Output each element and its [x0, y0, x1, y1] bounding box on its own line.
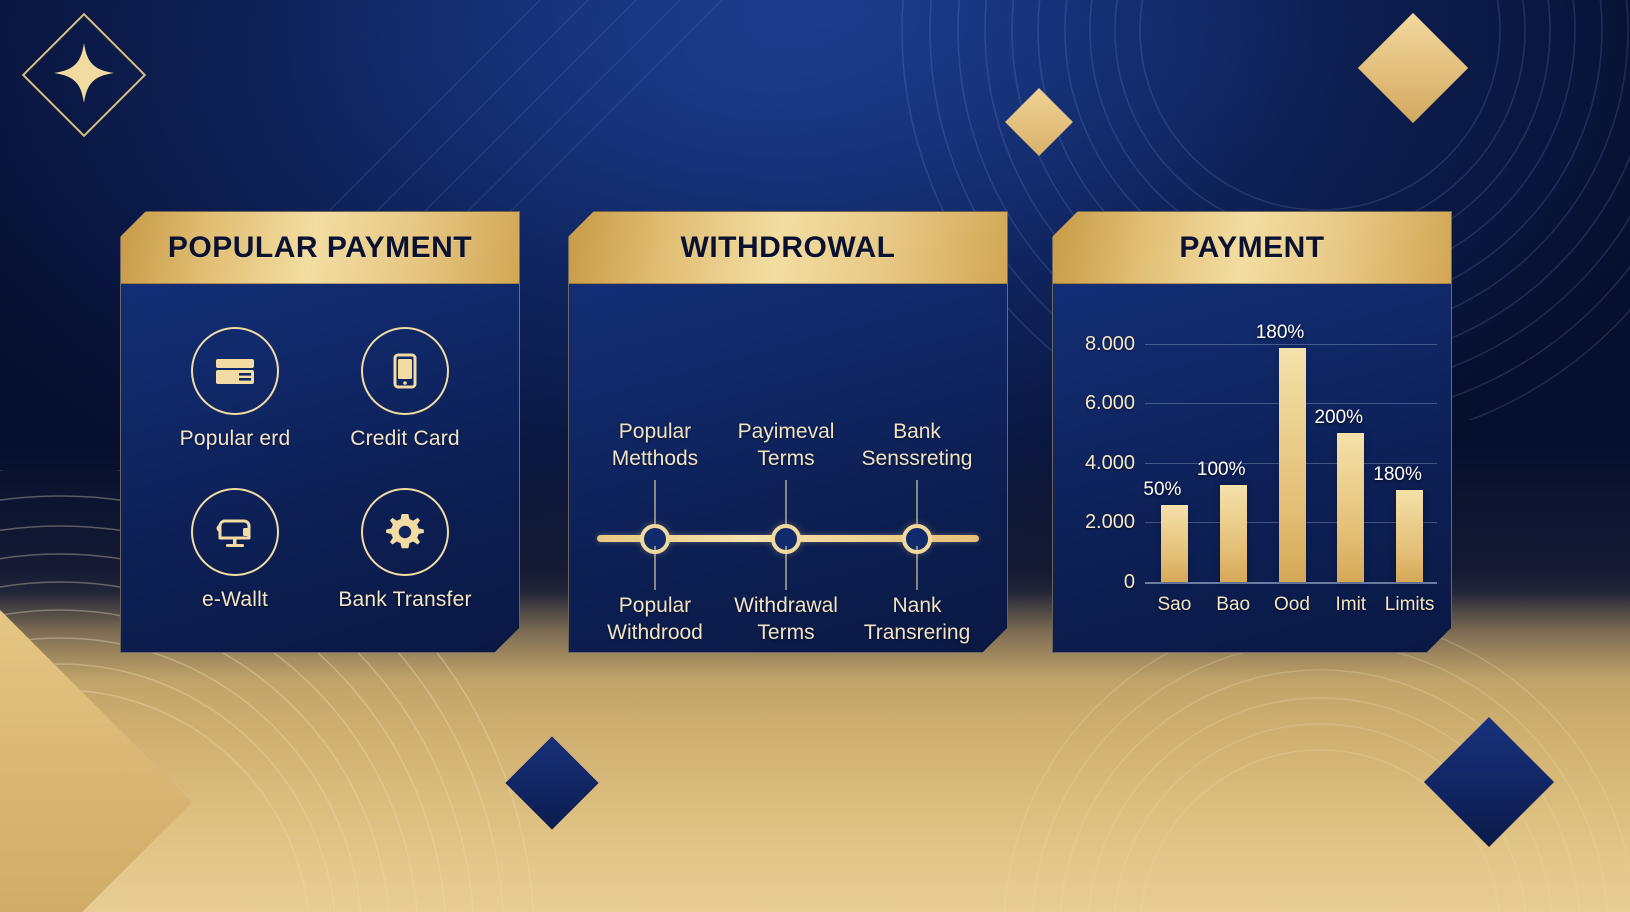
- timeline-bottom-label-line1: Withdrawal: [711, 592, 861, 619]
- panel-payment-title: PAYMENT: [1179, 231, 1324, 265]
- payment-method-item[interactable]: Credit Card: [325, 310, 485, 467]
- chart-bar[interactable]: [1220, 485, 1247, 582]
- panel-withdrowal-body: Popular Metthods Popular Withdrood Payim…: [569, 284, 1007, 653]
- payment-method-label: Bank Transfer: [338, 588, 471, 612]
- timeline-top-label: Popular Metthods: [580, 418, 730, 472]
- timeline-top-label-line2: Senssreting: [842, 445, 992, 472]
- payment-method-item[interactable]: Bank Transfer: [325, 471, 485, 628]
- timeline-tick-down: [785, 546, 787, 590]
- timeline-tick-down: [654, 546, 656, 590]
- chart-y-tick-label: 4.000: [1053, 452, 1135, 475]
- timeline-top-label: Payimeval Terms: [711, 418, 861, 472]
- panel-popular-payment: POPULAR PAYMENT Popular erd: [120, 211, 520, 653]
- timeline-bottom-label: Withdrawal Terms: [711, 592, 861, 646]
- mobile-phone-icon: [381, 347, 429, 395]
- timeline-bottom-label: Nank Transrering: [842, 592, 992, 646]
- icon-circle: [361, 327, 449, 415]
- chart-bar[interactable]: [1279, 348, 1306, 582]
- payment-method-label: e-Wallt: [202, 588, 268, 612]
- timeline-tick-down: [916, 546, 918, 590]
- panel-withdrowal-header: WITHDROWAL: [569, 212, 1007, 284]
- panel-withdrowal: WITHDROWAL Popular Metthods Popular With…: [568, 211, 1008, 653]
- chart-bar-value-label: 50%: [1127, 479, 1197, 501]
- chart-bar-value-label: 180%: [1363, 464, 1433, 486]
- icon-circle: [191, 488, 279, 576]
- timeline-top-label: Bank Senssreting: [842, 418, 992, 472]
- payment-method-label: Credit Card: [350, 427, 460, 451]
- timeline-bottom-label-line1: Nank: [842, 592, 992, 619]
- timeline-tick-up: [654, 480, 656, 524]
- bar-chart: 02.0004.0006.0008.00050%Sao100%Bao180%Oo…: [1053, 284, 1451, 653]
- chart-bar-value-label: 180%: [1245, 322, 1315, 344]
- panel-popular-payment-body: Popular erd Credit Card: [121, 284, 519, 653]
- chart-y-tick-label: 6.000: [1053, 392, 1135, 415]
- timeline-top-label-line1: Payimeval: [711, 418, 861, 445]
- timeline-bottom-label-line2: Transrering: [842, 619, 992, 646]
- timeline-bottom-label-line2: Terms: [711, 619, 861, 646]
- icon-circle: [361, 488, 449, 576]
- payment-method-item[interactable]: e-Wallt: [155, 471, 315, 628]
- panel-withdrowal-title: WITHDROWAL: [681, 231, 896, 265]
- chart-y-tick-label: 2.000: [1053, 511, 1135, 534]
- panel-payment-header: PAYMENT: [1053, 212, 1451, 284]
- panel-payment: PAYMENT 02.0004.0006.0008.00050%Sao100%B…: [1052, 211, 1452, 653]
- timeline: Popular Metthods Popular Withdrood Payim…: [569, 284, 1007, 653]
- timeline-top-label-line2: Metthods: [580, 445, 730, 472]
- chart-y-tick-label: 0: [1053, 571, 1135, 594]
- panel-payment-body: 02.0004.0006.0008.00050%Sao100%Bao180%Oo…: [1053, 284, 1451, 653]
- chart-x-tick-label: Limits: [1375, 594, 1445, 616]
- timeline-top-label-line1: Bank: [842, 418, 992, 445]
- chart-bar[interactable]: [1161, 505, 1188, 582]
- timeline-tick-up: [785, 480, 787, 524]
- credit-card-icon: [211, 347, 259, 395]
- payment-method-grid: Popular erd Credit Card: [121, 284, 519, 653]
- chart-y-tick-label: 8.000: [1053, 333, 1135, 356]
- timeline-top-label-line2: Terms: [711, 445, 861, 472]
- chart-gridline: [1145, 582, 1437, 584]
- gear-icon: [381, 508, 429, 556]
- payment-method-item[interactable]: Popular erd: [155, 310, 315, 467]
- timeline-bottom-label-line1: Popular: [580, 592, 730, 619]
- chart-bar-value-label: 200%: [1304, 407, 1374, 429]
- panel-popular-payment-header: POPULAR PAYMENT: [121, 212, 519, 284]
- sparkle-icon-top-left: [52, 41, 116, 105]
- infographic-stage: POPULAR PAYMENT Popular erd: [0, 0, 1630, 912]
- icon-circle: [191, 327, 279, 415]
- wallet-monitor-icon: [210, 507, 260, 557]
- timeline-bottom-label-line2: Withdrood: [580, 619, 730, 646]
- chart-bar[interactable]: [1337, 433, 1364, 582]
- payment-method-label: Popular erd: [180, 427, 291, 451]
- timeline-bottom-label: Popular Withdrood: [580, 592, 730, 646]
- timeline-top-label-line1: Popular: [580, 418, 730, 445]
- chart-bar-value-label: 100%: [1186, 459, 1256, 481]
- timeline-tick-up: [916, 480, 918, 524]
- panel-popular-payment-title: POPULAR PAYMENT: [168, 231, 472, 265]
- chart-bar[interactable]: [1396, 490, 1423, 582]
